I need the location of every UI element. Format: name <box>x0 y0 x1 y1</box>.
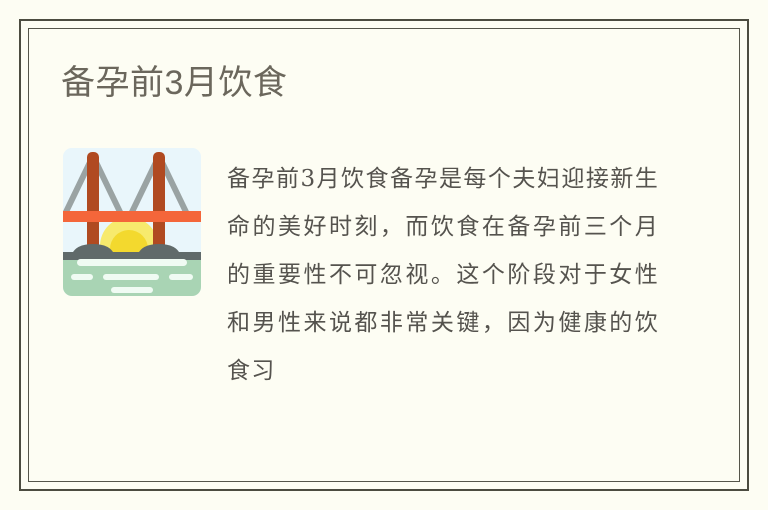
article-content-row: 备孕前3月饮食备孕是每个夫妇迎接新生命的美好时刻，而饮食在备孕前三个月的重要性不… <box>61 147 661 407</box>
page-title: 备孕前3月饮食 <box>61 61 661 105</box>
page-root: 备孕前3月饮食 <box>0 0 768 510</box>
article-body-text: 备孕前3月饮食备孕是每个夫妇迎接新生命的美好时刻，而饮食在备孕前三个月的重要性不… <box>227 155 659 395</box>
bridge-sunset-icon <box>63 148 201 296</box>
article-thumbnail <box>63 148 201 296</box>
